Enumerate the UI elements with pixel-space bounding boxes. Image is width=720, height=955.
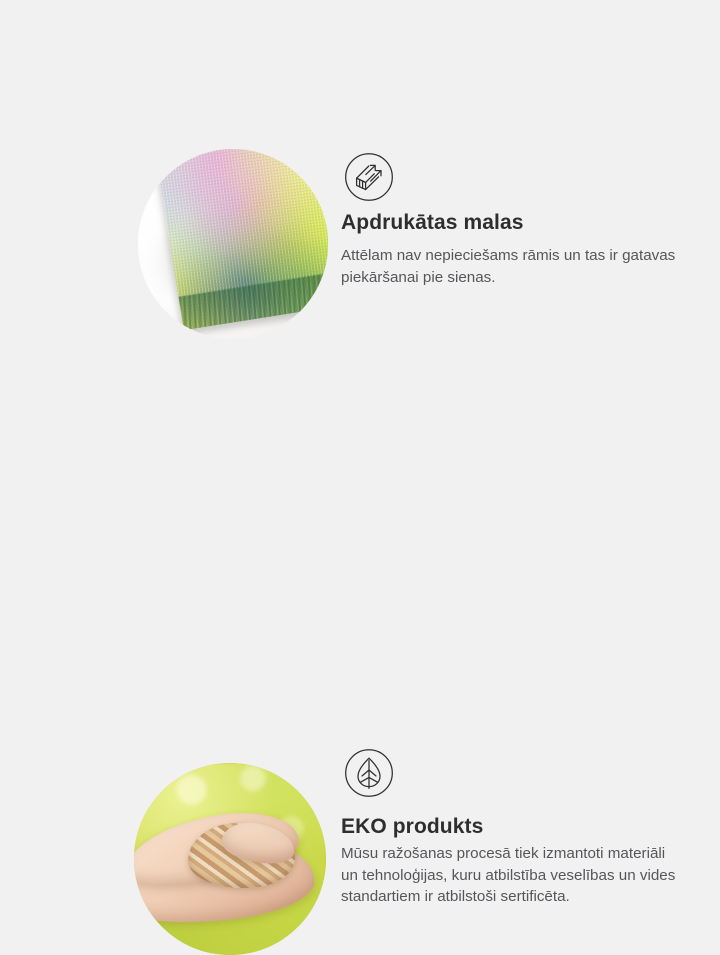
printed-canvas-block <box>153 149 328 330</box>
leaf-icon <box>344 748 394 798</box>
feature-body-eco-product: Mūsu ražošanas procesā tiek izmantoti ma… <box>341 843 685 908</box>
canvas-corner-photo <box>138 149 328 339</box>
product-feature-infographic: Apdrukātas malas Attēlam nav nepieciešam… <box>0 0 720 720</box>
feature-heading-eco-product: EKO produkts <box>341 815 483 839</box>
feature-body-printed-edges: Attēlam nav nepieciešams rāmis un tas ir… <box>341 245 685 288</box>
feature-block-printed-edges: Apdrukātas malas Attēlam nav nepieciešam… <box>0 0 720 360</box>
feature-block-eco-product: EKO produkts Mūsu ražošanas procesā tiek… <box>0 360 720 720</box>
wood-chips-in-hands-photo <box>134 763 326 955</box>
feature-heading-printed-edges: Apdrukātas malas <box>341 211 524 235</box>
printed-canvas-edges-icon <box>344 152 394 202</box>
